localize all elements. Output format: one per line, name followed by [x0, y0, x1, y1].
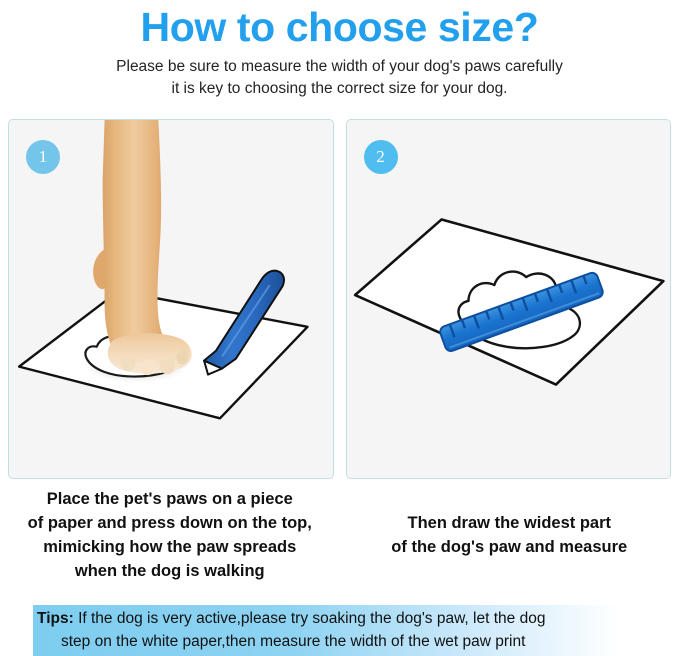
infographic-page: How to choose size? Please be sure to me… [0, 0, 679, 656]
caption-1-line-3: mimicking how the paw spreads [0, 535, 340, 559]
page-title: How to choose size? [0, 2, 679, 50]
caption-1-line-1: Place the pet's paws on a piece [0, 487, 340, 511]
step-panel-2: 2 [346, 119, 672, 479]
tips-text-1: If the dog is very active,please try soa… [78, 610, 545, 627]
step-badge-2-label: 2 [376, 147, 385, 167]
caption-2-line-2: of the dog's paw and measure [340, 535, 679, 559]
step-badge-1: 1 [26, 140, 60, 174]
tips-banner: Tips: If the dog is very active,please t… [33, 605, 651, 656]
step-caption-1: Place the pet's paws on a piece of paper… [0, 487, 340, 583]
step-captions: Place the pet's paws on a piece of paper… [0, 487, 679, 583]
tips-label: Tips: [37, 610, 74, 627]
tips-line-1: Tips: If the dog is very active,please t… [37, 607, 647, 630]
subtitle-line-1: Please be sure to measure the width of y… [116, 58, 563, 75]
step-panel-1: 1 [8, 119, 334, 479]
step-caption-2: Then draw the widest part of the dog's p… [340, 487, 679, 583]
page-subtitle: Please be sure to measure the width of y… [30, 56, 650, 100]
caption-1-line-4: when the dog is walking [0, 559, 340, 583]
illustration-paw-on-paper [9, 120, 333, 478]
illustration-ruler-measuring-paw [347, 120, 671, 478]
step-badge-1-label: 1 [39, 147, 48, 167]
subtitle-line-2: it is key to choosing the correct size f… [30, 78, 650, 100]
caption-1-line-2: of paper and press down on the top, [0, 511, 340, 535]
steps-panels: 1 [8, 119, 671, 479]
step-badge-2: 2 [364, 140, 398, 174]
header: How to choose size? Please be sure to me… [0, 0, 679, 100]
caption-2-line-1: Then draw the widest part [340, 511, 679, 535]
tips-line-2: step on the white paper,then measure the… [37, 630, 647, 653]
